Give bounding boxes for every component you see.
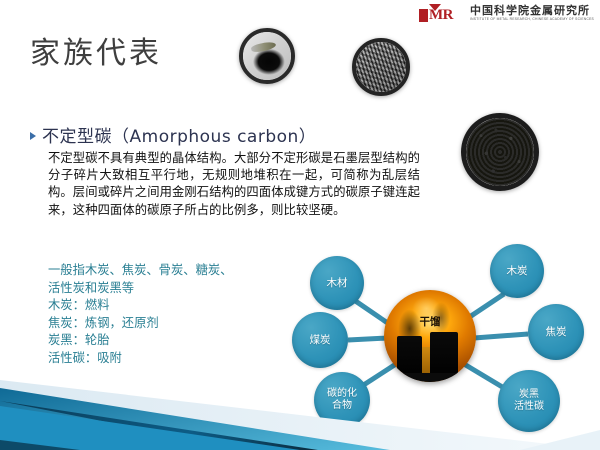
node-label-line1: 碳的化 <box>327 388 357 401</box>
diagram-node-wood: 木材 <box>310 256 364 310</box>
carbon-usage-list: 一般指木炭、焦炭、骨炭、糖炭、 活性炭和炭黑等 木炭：燃料 焦炭：炼钢，还原剂 … <box>48 262 232 368</box>
carbon-powder-photo <box>239 28 295 84</box>
dry-distillation-diagram: 木材 煤炭 碳的化 合物 木炭 焦炭 炭黑 活性碳 干馏 <box>292 252 600 450</box>
logo-text-block: 中国科学院金属研究所 INSTITUTE OF METAL RESEARCH, … <box>470 5 594 22</box>
node-label-line2: 活性碳 <box>514 401 544 414</box>
diagram-node-charcoal: 木炭 <box>490 244 544 298</box>
connector-coal <box>348 338 388 340</box>
carbon-powder-photo-content <box>243 32 291 80</box>
list-item: 木炭：燃料 <box>48 297 232 315</box>
node-label-line2: 合物 <box>332 400 352 413</box>
body-paragraph: 不定型碳不具有典型的晶体结构。大部分不定形碳是石墨层型结构的分子碎片大致相互平行… <box>48 150 420 219</box>
diagram-node-carbon-compound: 碳的化 合物 <box>314 372 370 428</box>
activated-carbon-granule-photo-content <box>466 118 534 186</box>
deco-corner-accent <box>0 440 80 450</box>
logo-bar-icon <box>419 9 428 22</box>
deco-dark-stripe <box>0 401 318 450</box>
section-heading-label: 不定型碳（Amorphous carbon） <box>42 122 316 147</box>
diagram-node-carbon-black: 炭黑 活性碳 <box>498 370 560 432</box>
node-label: 木炭 <box>507 265 528 278</box>
slide-canvas: MR 中国科学院金属研究所 INSTITUTE OF METAL RESEARC… <box>0 0 600 450</box>
list-item: 活性碳：吸附 <box>48 350 232 368</box>
diagram-node-coke: 焦炭 <box>528 304 584 360</box>
node-label: 煤炭 <box>310 334 331 347</box>
spoon-icon <box>250 40 276 53</box>
section-heading: 不定型碳（Amorphous carbon） <box>30 122 316 147</box>
logo-english-name: INSTITUTE OF METAL RESEARCH, CHINESE ACA… <box>470 17 594 22</box>
node-label: 焦炭 <box>546 326 567 339</box>
institute-logo: MR 中国科学院金属研究所 INSTITUTE OF METAL RESEARC… <box>419 2 594 24</box>
graphite-flake-photo-content <box>356 42 406 92</box>
imr-logo-mark: MR <box>419 5 465 22</box>
diagram-center-label: 干馏 <box>384 314 476 329</box>
logo-chinese-name: 中国科学院金属研究所 <box>470 5 594 17</box>
list-item: 一般指木炭、焦炭、骨炭、糖炭、 <box>48 262 232 280</box>
node-label-line1: 炭黑 <box>519 389 539 402</box>
list-item: 炭黑：轮胎 <box>48 332 232 350</box>
node-label: 木材 <box>327 277 348 290</box>
page-title: 家族代表 <box>30 28 162 72</box>
activated-carbon-granule-photo <box>461 113 539 191</box>
logo-triangle-icon <box>429 4 441 11</box>
list-item: 活性炭和炭黑等 <box>48 280 232 298</box>
bullet-arrow-icon <box>30 132 36 140</box>
deco-bright-wedge <box>0 406 300 450</box>
furnace-base-icon <box>384 373 476 382</box>
connector-coke <box>474 334 528 338</box>
diagram-node-coal: 煤炭 <box>292 312 348 368</box>
graphite-flake-photo <box>352 38 410 96</box>
list-item: 焦炭：炼钢，还原剂 <box>48 315 232 333</box>
diagram-center-furnace: 干馏 <box>384 290 476 382</box>
